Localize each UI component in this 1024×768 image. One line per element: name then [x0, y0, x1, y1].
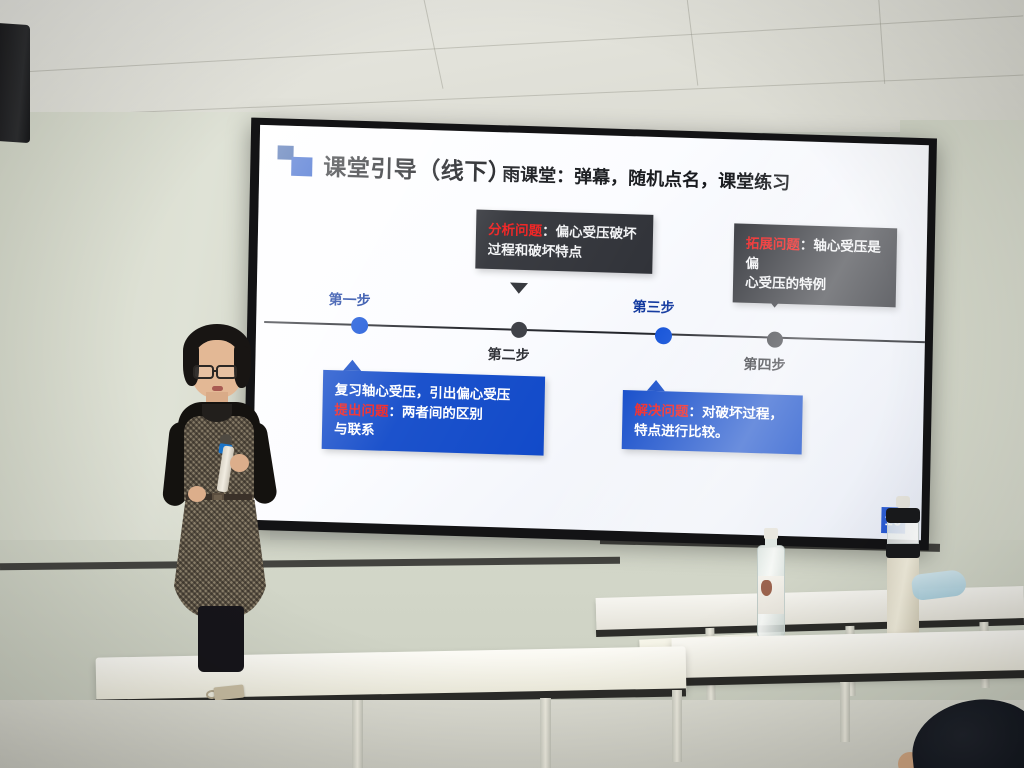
timeline-node-4[interactable]: [767, 331, 783, 347]
callout-pointer-up: [343, 359, 361, 371]
timeline-node-1[interactable]: [351, 317, 368, 335]
slide-title-row: 课堂引导（线下）: [277, 145, 512, 184]
callout-pointer-down: [510, 283, 528, 295]
step-label-1: 第一步: [328, 289, 370, 310]
callout-raise-problem[interactable]: 复习轴心受压，引出偏心受压 提出问题：两者间的区别 与联系: [322, 370, 545, 455]
callout-text: 两者间的区别: [402, 404, 483, 421]
table-leg: [840, 682, 850, 742]
callout-line-1: 拓展问题：轴心受压是偏: [745, 234, 885, 277]
callout-highlight: 提出问题: [334, 402, 388, 419]
callout-line-2: 心受压的特例: [745, 273, 884, 297]
ceiling-grid-line: [418, 0, 444, 89]
ceiling-grid-line: [876, 0, 885, 84]
table-leg: [672, 690, 682, 762]
ceiling-grid-line: [683, 0, 699, 86]
hand-left: [188, 486, 206, 502]
callout-pointer-up: [647, 380, 665, 392]
step-label-4: 第四步: [743, 354, 785, 375]
presenter-person: [158, 318, 282, 670]
presentation-display[interactable]: 课堂引导（线下） 雨课堂：弹幕，随机点名，课堂练习 第一步 第二步 第三步 第四…: [243, 118, 937, 551]
step-label-3: 第三步: [632, 296, 674, 317]
step-label-2: 第二步: [487, 344, 529, 365]
callout-highlight: 解决问题: [634, 402, 688, 419]
slide-subtitle: 雨课堂：弹幕，随机点名，课堂练习: [502, 160, 790, 195]
callout-highlight: 分析问题: [488, 222, 542, 239]
collar: [202, 404, 232, 422]
slide-canvas: 课堂引导（线下） 雨课堂：弹幕，随机点名，课堂练习 第一步 第二步 第三步 第四…: [252, 125, 929, 540]
houndstooth-skirt: [172, 500, 268, 618]
floor: [0, 700, 1024, 768]
ceiling-grid-line: [1, 15, 1023, 73]
callout-pointer-down: [766, 296, 784, 308]
glasses-bridge: [214, 370, 218, 372]
table-leg: [352, 700, 363, 768]
callout-separator: ：: [388, 403, 402, 418]
water-bottle-clear[interactable]: [756, 528, 786, 640]
callout-separator: ：: [542, 223, 556, 238]
callout-analyze-problem[interactable]: 分析问题：偏心受压破坏 过程和破坏特点: [475, 209, 653, 274]
wall-speaker: [0, 23, 30, 143]
timeline-node-2[interactable]: [511, 322, 527, 338]
glasses-right-lens: [216, 365, 237, 379]
callout-solve-problem[interactable]: 解决问题：对破坏过程， 特点进行比较。: [622, 390, 803, 455]
callout-separator: ：: [800, 237, 814, 252]
timeline-node-3[interactable]: [655, 327, 672, 345]
callout-text: 偏心受压破坏: [555, 224, 636, 241]
insulated-tumbler[interactable]: [884, 496, 922, 642]
legs: [198, 606, 244, 672]
hand-right: [230, 454, 249, 472]
callout-highlight: 拓展问题: [746, 236, 800, 253]
square-bullet-icon: [277, 145, 314, 178]
lecture-room-photo: 课堂引导（线下） 雨课堂：弹幕，随机点名，课堂练习 第一步 第二步 第三步 第四…: [0, 0, 1024, 768]
callout-separator: ：: [688, 404, 702, 419]
callout-extend-problem[interactable]: 拓展问题：轴心受压是偏 心受压的特例: [733, 223, 898, 307]
mouth: [212, 386, 223, 391]
page-title: 课堂引导（线下）: [323, 156, 511, 185]
table-leg: [540, 698, 551, 768]
callout-text: 对破坏过程，: [702, 404, 783, 421]
glasses-left-lens: [193, 365, 214, 379]
